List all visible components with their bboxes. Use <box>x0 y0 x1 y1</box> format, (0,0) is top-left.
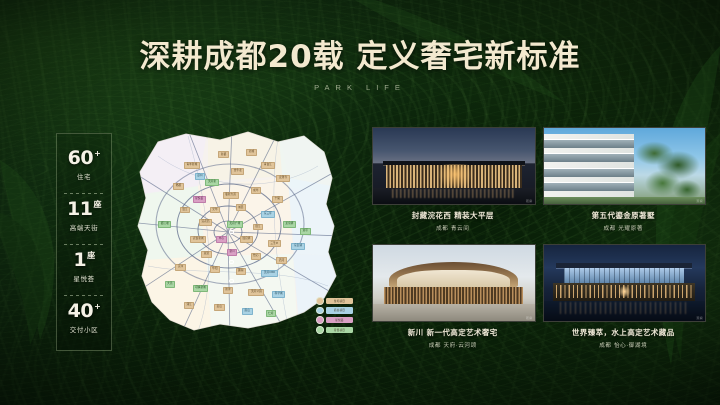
project-card[interactable]: 观察 封藏浣花西 精装大平层 成都 青云间 <box>372 127 534 234</box>
card-caption: 第五代鎏金原著墅 成都 光耀原著 <box>543 205 705 232</box>
card-title: 第五代鎏金原著墅 <box>543 210 705 221</box>
map-project-chips: 青羊新城新都北城彭州郫都天府新金牛北青白江龙潭寺星悦荟蜀新大道成华十陵温江光华城… <box>128 126 343 338</box>
map-project-chip: 东三环 <box>261 211 274 218</box>
card-subtitle: 成都 青云间 <box>372 224 534 232</box>
map-project-chip: 华阳 <box>210 266 221 273</box>
map-project-chip: 中心 <box>216 236 227 243</box>
map-project-chip: 金牛北 <box>231 168 244 175</box>
card-title: 新川 新一代高定艺术奢宅 <box>372 327 534 338</box>
white-modern-apartment-photo: 观察 <box>543 127 707 205</box>
stat-number: 60+ <box>57 149 111 168</box>
stat-item: 60+ 住宅 <box>57 146 111 186</box>
map-project-chip: 新都 <box>218 151 229 158</box>
legend-label: 住宅项目 <box>326 298 353 305</box>
map-project-chip: 天府新 <box>205 179 218 186</box>
map-project-chip: 星悦荟 <box>193 196 206 203</box>
stat-unit: + <box>94 302 100 311</box>
map-legend: 住宅项目商业项目星悦荟待售项目 <box>316 297 353 334</box>
stat-value: 40 <box>68 300 93 322</box>
project-cards: 观察 封藏浣花西 精装大平层 成都 青云间 观察 第五代鎏金原著墅 成都 光耀原… <box>372 127 704 351</box>
stat-item: 1座 星悦荟 <box>57 248 111 288</box>
stat-label: 星悦荟 <box>57 273 111 283</box>
legend-row: 商业项目 <box>316 307 353 315</box>
page-subtitle: PARK LIFE <box>0 83 720 92</box>
legend-dot-icon <box>316 307 324 315</box>
map-location-dot <box>229 230 234 235</box>
map-project-chip: 崇州 <box>175 264 186 271</box>
legend-dot-icon <box>316 297 324 305</box>
map-project-chip: 眉山 <box>242 308 253 315</box>
map-project-chip: 彭州 <box>195 173 206 180</box>
map-project-chip: 新川 <box>227 249 238 256</box>
map-project-chip: 东安湖 <box>291 243 304 250</box>
map-project-chip: 温江 <box>180 207 191 214</box>
waterfront-art-pavilion-photo: 观察 <box>543 244 707 322</box>
stat-value: 1 <box>73 249 86 271</box>
night-colonnade-residence-photo: 观察 <box>372 127 536 205</box>
map-project-chip: 光华 <box>210 207 221 214</box>
map-project-chip: 十陵 <box>272 196 283 203</box>
card-subtitle: 成都 天府·云河颂 <box>372 341 534 349</box>
legend-label: 待售项目 <box>326 327 353 334</box>
project-card[interactable]: 观察 第五代鎏金原著墅 成都 光耀原著 <box>543 127 705 234</box>
project-card[interactable]: 观察 世界臻萃，水上高定艺术藏品 成都 怡心·御湖境 <box>543 244 705 351</box>
slide-canvas: 深耕成都20载 定义奢宅新标准 PARK LIFE 60+ 住宅 11座 高端天… <box>0 0 720 405</box>
project-card[interactable]: 观察 新川 新一代高定艺术奢宅 成都 天府·云河颂 <box>372 244 534 351</box>
map-project-chip: 彭山 <box>214 304 225 311</box>
stat-label: 住宅 <box>57 171 111 181</box>
map-project-chip: 蒲江 <box>184 302 195 309</box>
legend-dot-icon <box>316 316 324 324</box>
map-project-chip: 武侯新城 <box>190 236 206 243</box>
map-project-chip: 洛带 <box>300 228 311 235</box>
map-project-chip: 龙泉驿 <box>283 221 296 228</box>
legend-row: 住宅项目 <box>316 297 353 305</box>
card-caption: 世界臻萃，水上高定艺术藏品 成都 怡心·御湖境 <box>543 322 705 349</box>
map-project-chip: 郫都 <box>173 183 184 190</box>
card-caption: 封藏浣花西 精装大平层 成都 青云间 <box>372 205 534 232</box>
stat-value: 11 <box>67 198 92 220</box>
stat-number: 40+ <box>57 302 111 321</box>
map-project-chip: 新津 <box>223 287 234 294</box>
card-title: 封藏浣花西 精装大平层 <box>372 210 534 221</box>
map-project-chip: 西河 <box>276 257 287 264</box>
map-project-chip: 城西 <box>236 204 247 211</box>
map-project-chip: 大邑 <box>165 281 176 288</box>
stat-unit: 座 <box>93 200 101 209</box>
map-project-chip: 青白江 <box>261 162 274 169</box>
stat-number: 11座 <box>57 200 111 219</box>
stat-unit: + <box>94 149 100 158</box>
chengdu-map: 青羊新城新都北城彭州郫都天府新金牛北青白江龙潭寺星悦荟蜀新大道成华十陵温江光华城… <box>128 126 343 338</box>
card-title: 世界臻萃，水上高定艺术藏品 <box>543 327 705 338</box>
card-subtitle: 成都 光耀原著 <box>543 224 705 232</box>
stat-label: 高端天街 <box>57 222 111 232</box>
header: 深耕成都20载 定义奢宅新标准 PARK LIFE <box>0 40 720 92</box>
photo-watermark: 观察 <box>696 199 703 203</box>
map-project-chip: 北城 <box>246 149 257 156</box>
stat-label: 交付小区 <box>57 324 111 334</box>
stat-value: 60 <box>68 147 93 169</box>
map-project-chip: 锦江 <box>253 224 264 231</box>
card-caption: 新川 新一代高定艺术奢宅 成都 天府·云河颂 <box>372 322 534 349</box>
map-location-dot <box>229 279 234 284</box>
map-project-chip: 科学城 <box>272 291 285 298</box>
map-project-chip: 都江堰 <box>158 221 171 228</box>
map-project-chip: 双流 <box>201 251 212 258</box>
map-project-chip: 浣花西 <box>199 219 212 226</box>
map-project-chip: 天府公园 <box>248 289 264 296</box>
map-project-chip: 麓湖 <box>236 268 247 275</box>
legend-row: 待售项目 <box>316 326 353 334</box>
map-location-dot <box>229 260 234 265</box>
stat-unit: 座 <box>87 251 95 260</box>
legend-row: 星悦荟 <box>316 316 353 324</box>
stat-number: 1座 <box>57 251 111 270</box>
card-subtitle: 成都 怡心·御湖境 <box>543 341 705 349</box>
map-project-chip: 天府CBD <box>261 270 277 277</box>
stats-panel: 60+ 住宅 11座 高端天街 1座 星悦荟 40+ 交付小区 <box>56 133 112 351</box>
stat-item: 40+ 交付小区 <box>57 299 111 339</box>
map-project-chip: 蜀新大道 <box>223 192 239 199</box>
map-project-chip: 仁寿 <box>266 310 277 317</box>
curved-roof-clubhouse-photo: 观察 <box>372 244 536 322</box>
map-project-chip: 锦官驿 <box>240 236 253 243</box>
photo-watermark: 观察 <box>526 316 533 320</box>
map-project-chip: 青羊新城 <box>184 162 200 169</box>
photo-watermark: 观察 <box>696 316 703 320</box>
map-project-chip: 天府广场 <box>227 221 243 228</box>
map-project-chip: 怡心 <box>251 253 262 260</box>
map-project-chip: 邛崃新城 <box>193 285 209 292</box>
photo-watermark: 观察 <box>526 199 533 203</box>
stat-item: 11座 高端天街 <box>57 197 111 237</box>
legend-label: 商业项目 <box>326 307 353 314</box>
legend-dot-icon <box>316 326 324 334</box>
map-project-chip: 龙潭寺 <box>276 175 289 182</box>
page-title: 深耕成都20载 定义奢宅新标准 <box>0 40 720 74</box>
map-project-chip: 三圣乡 <box>268 240 281 247</box>
map-project-chip: 成华 <box>251 187 262 194</box>
legend-label: 星悦荟 <box>326 317 353 324</box>
